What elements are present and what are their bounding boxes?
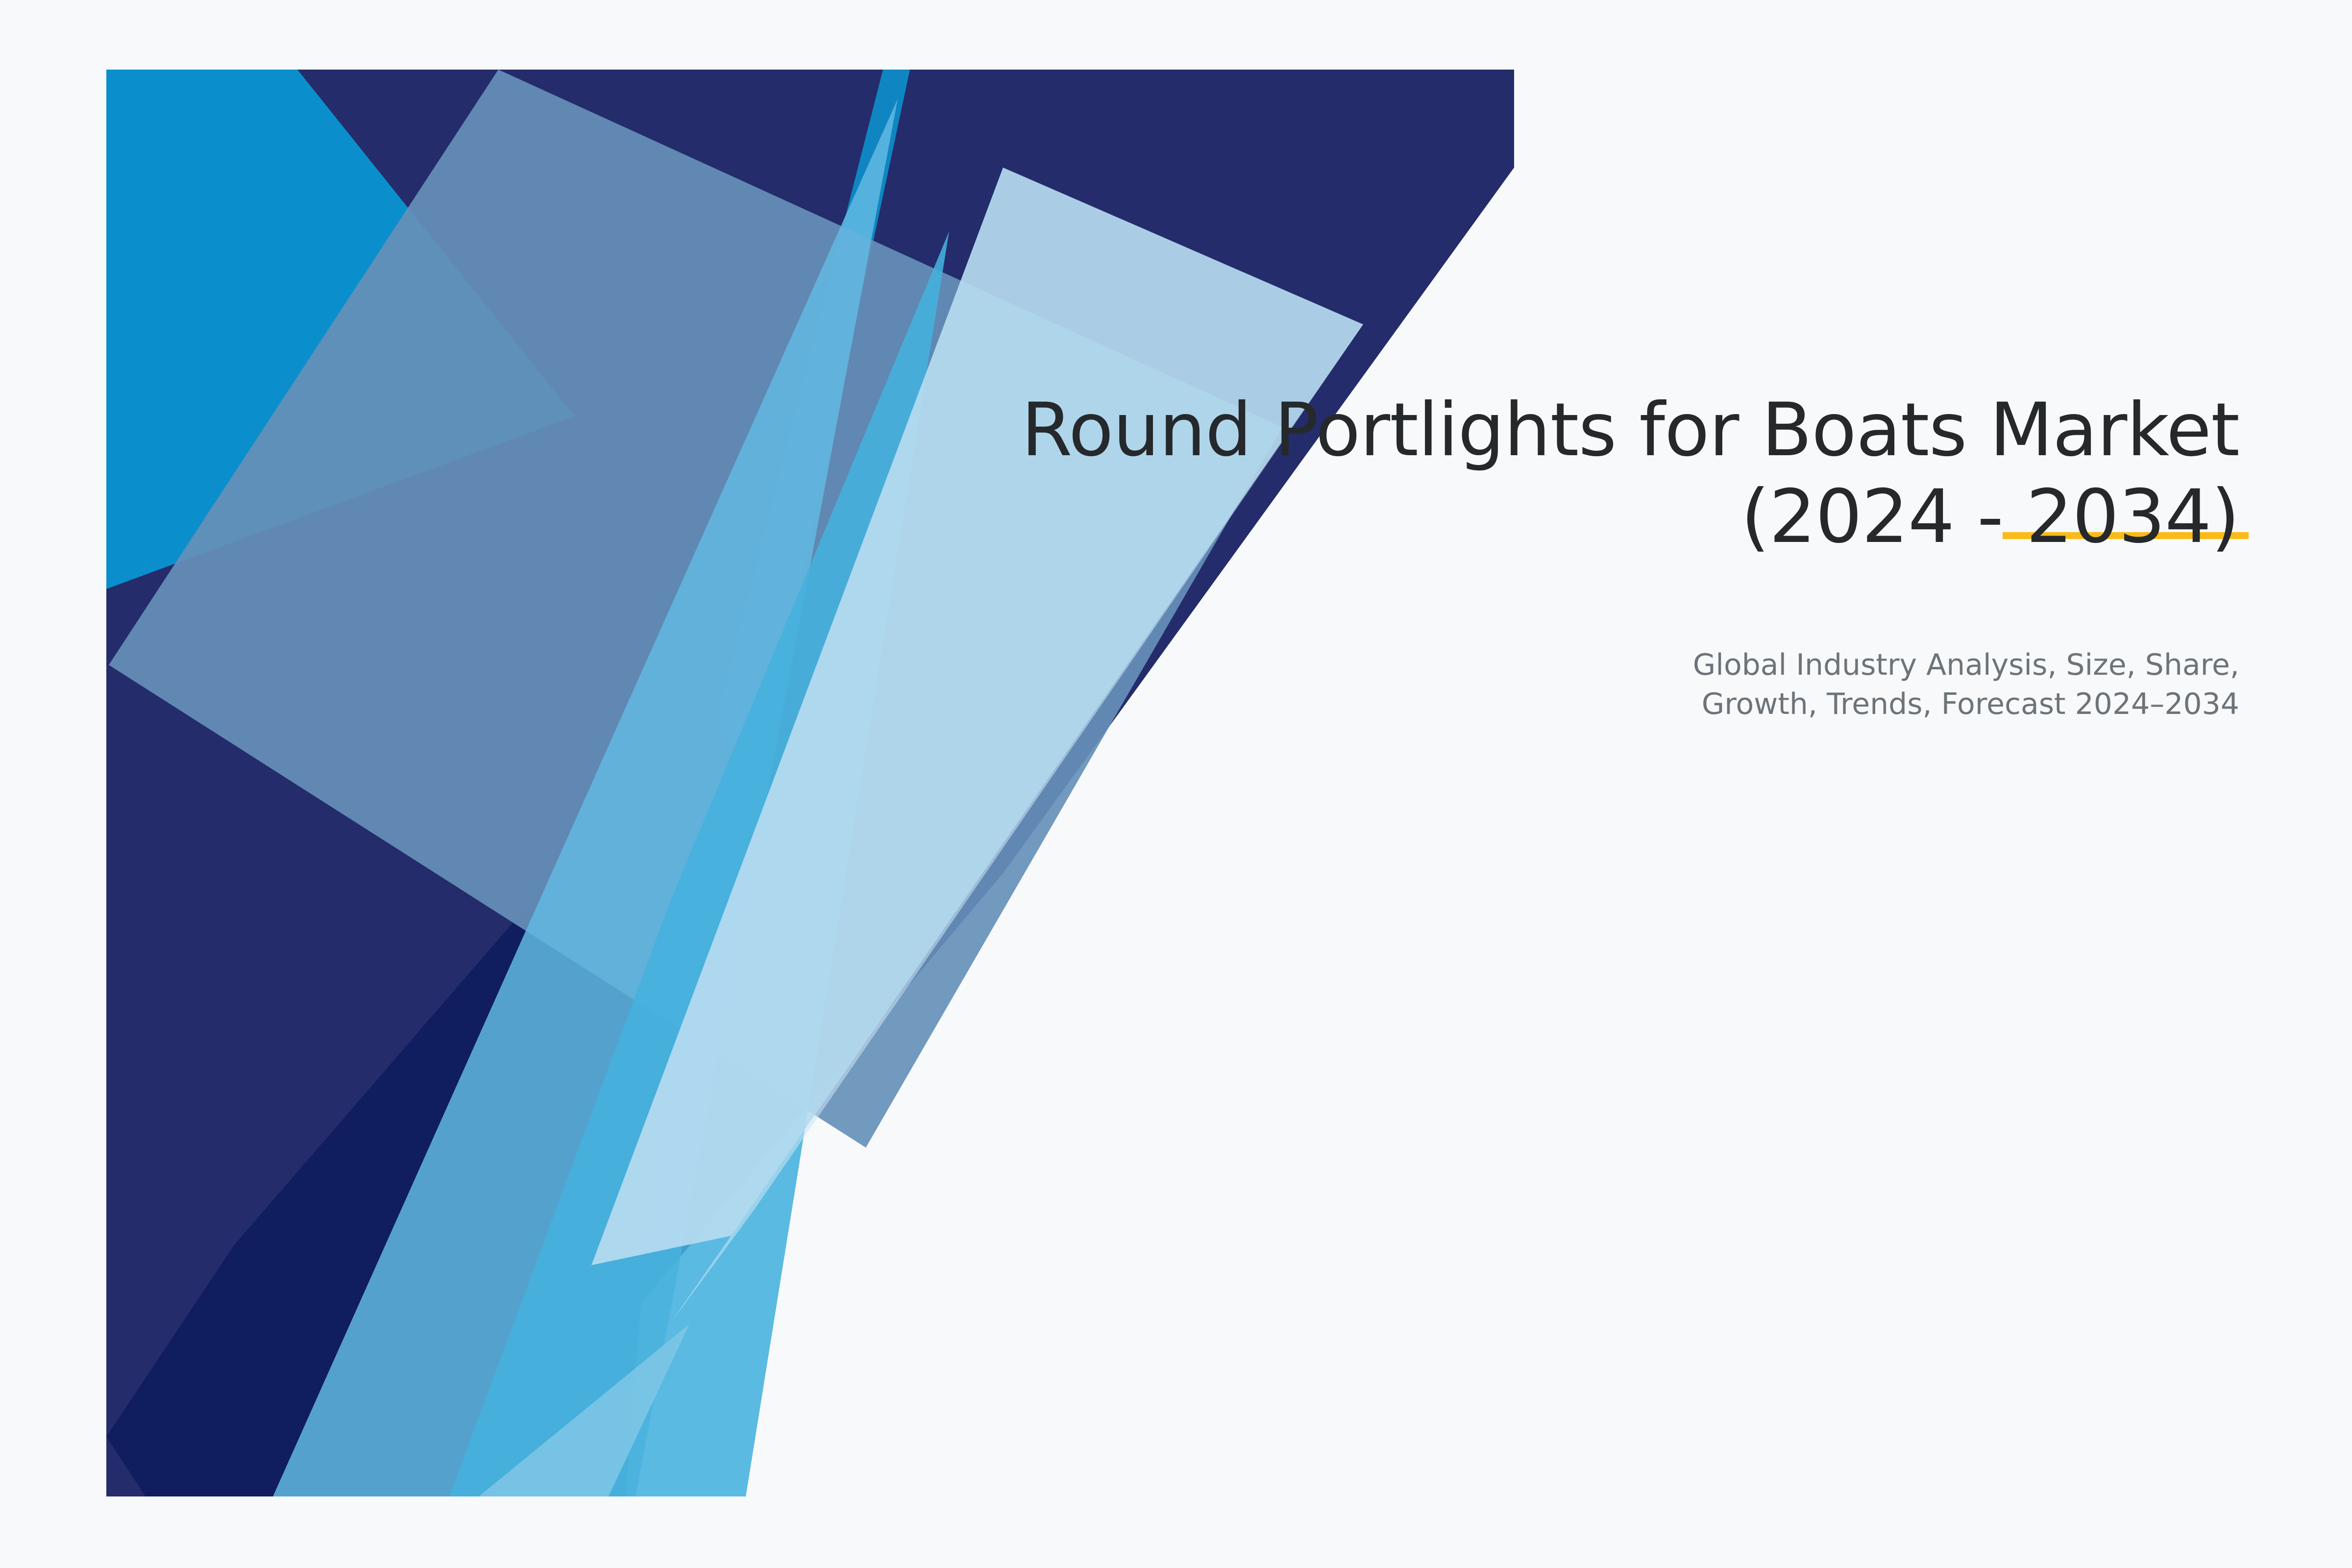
title-block: Round Portlights for Boats Market (2024 … (931, 387, 2239, 561)
geometric-artwork-svg (106, 70, 1518, 1496)
page-title: Round Portlights for Boats Market (2024 … (931, 387, 2239, 561)
subtitle-block: Global Industry Analysis, Size, Share, G… (1274, 646, 2239, 724)
page-subtitle: Global Industry Analysis, Size, Share, G… (1274, 646, 2239, 724)
report-cover-page: Round Portlights for Boats Market (2024 … (0, 0, 2352, 1568)
cover-artwork (106, 70, 1518, 1496)
